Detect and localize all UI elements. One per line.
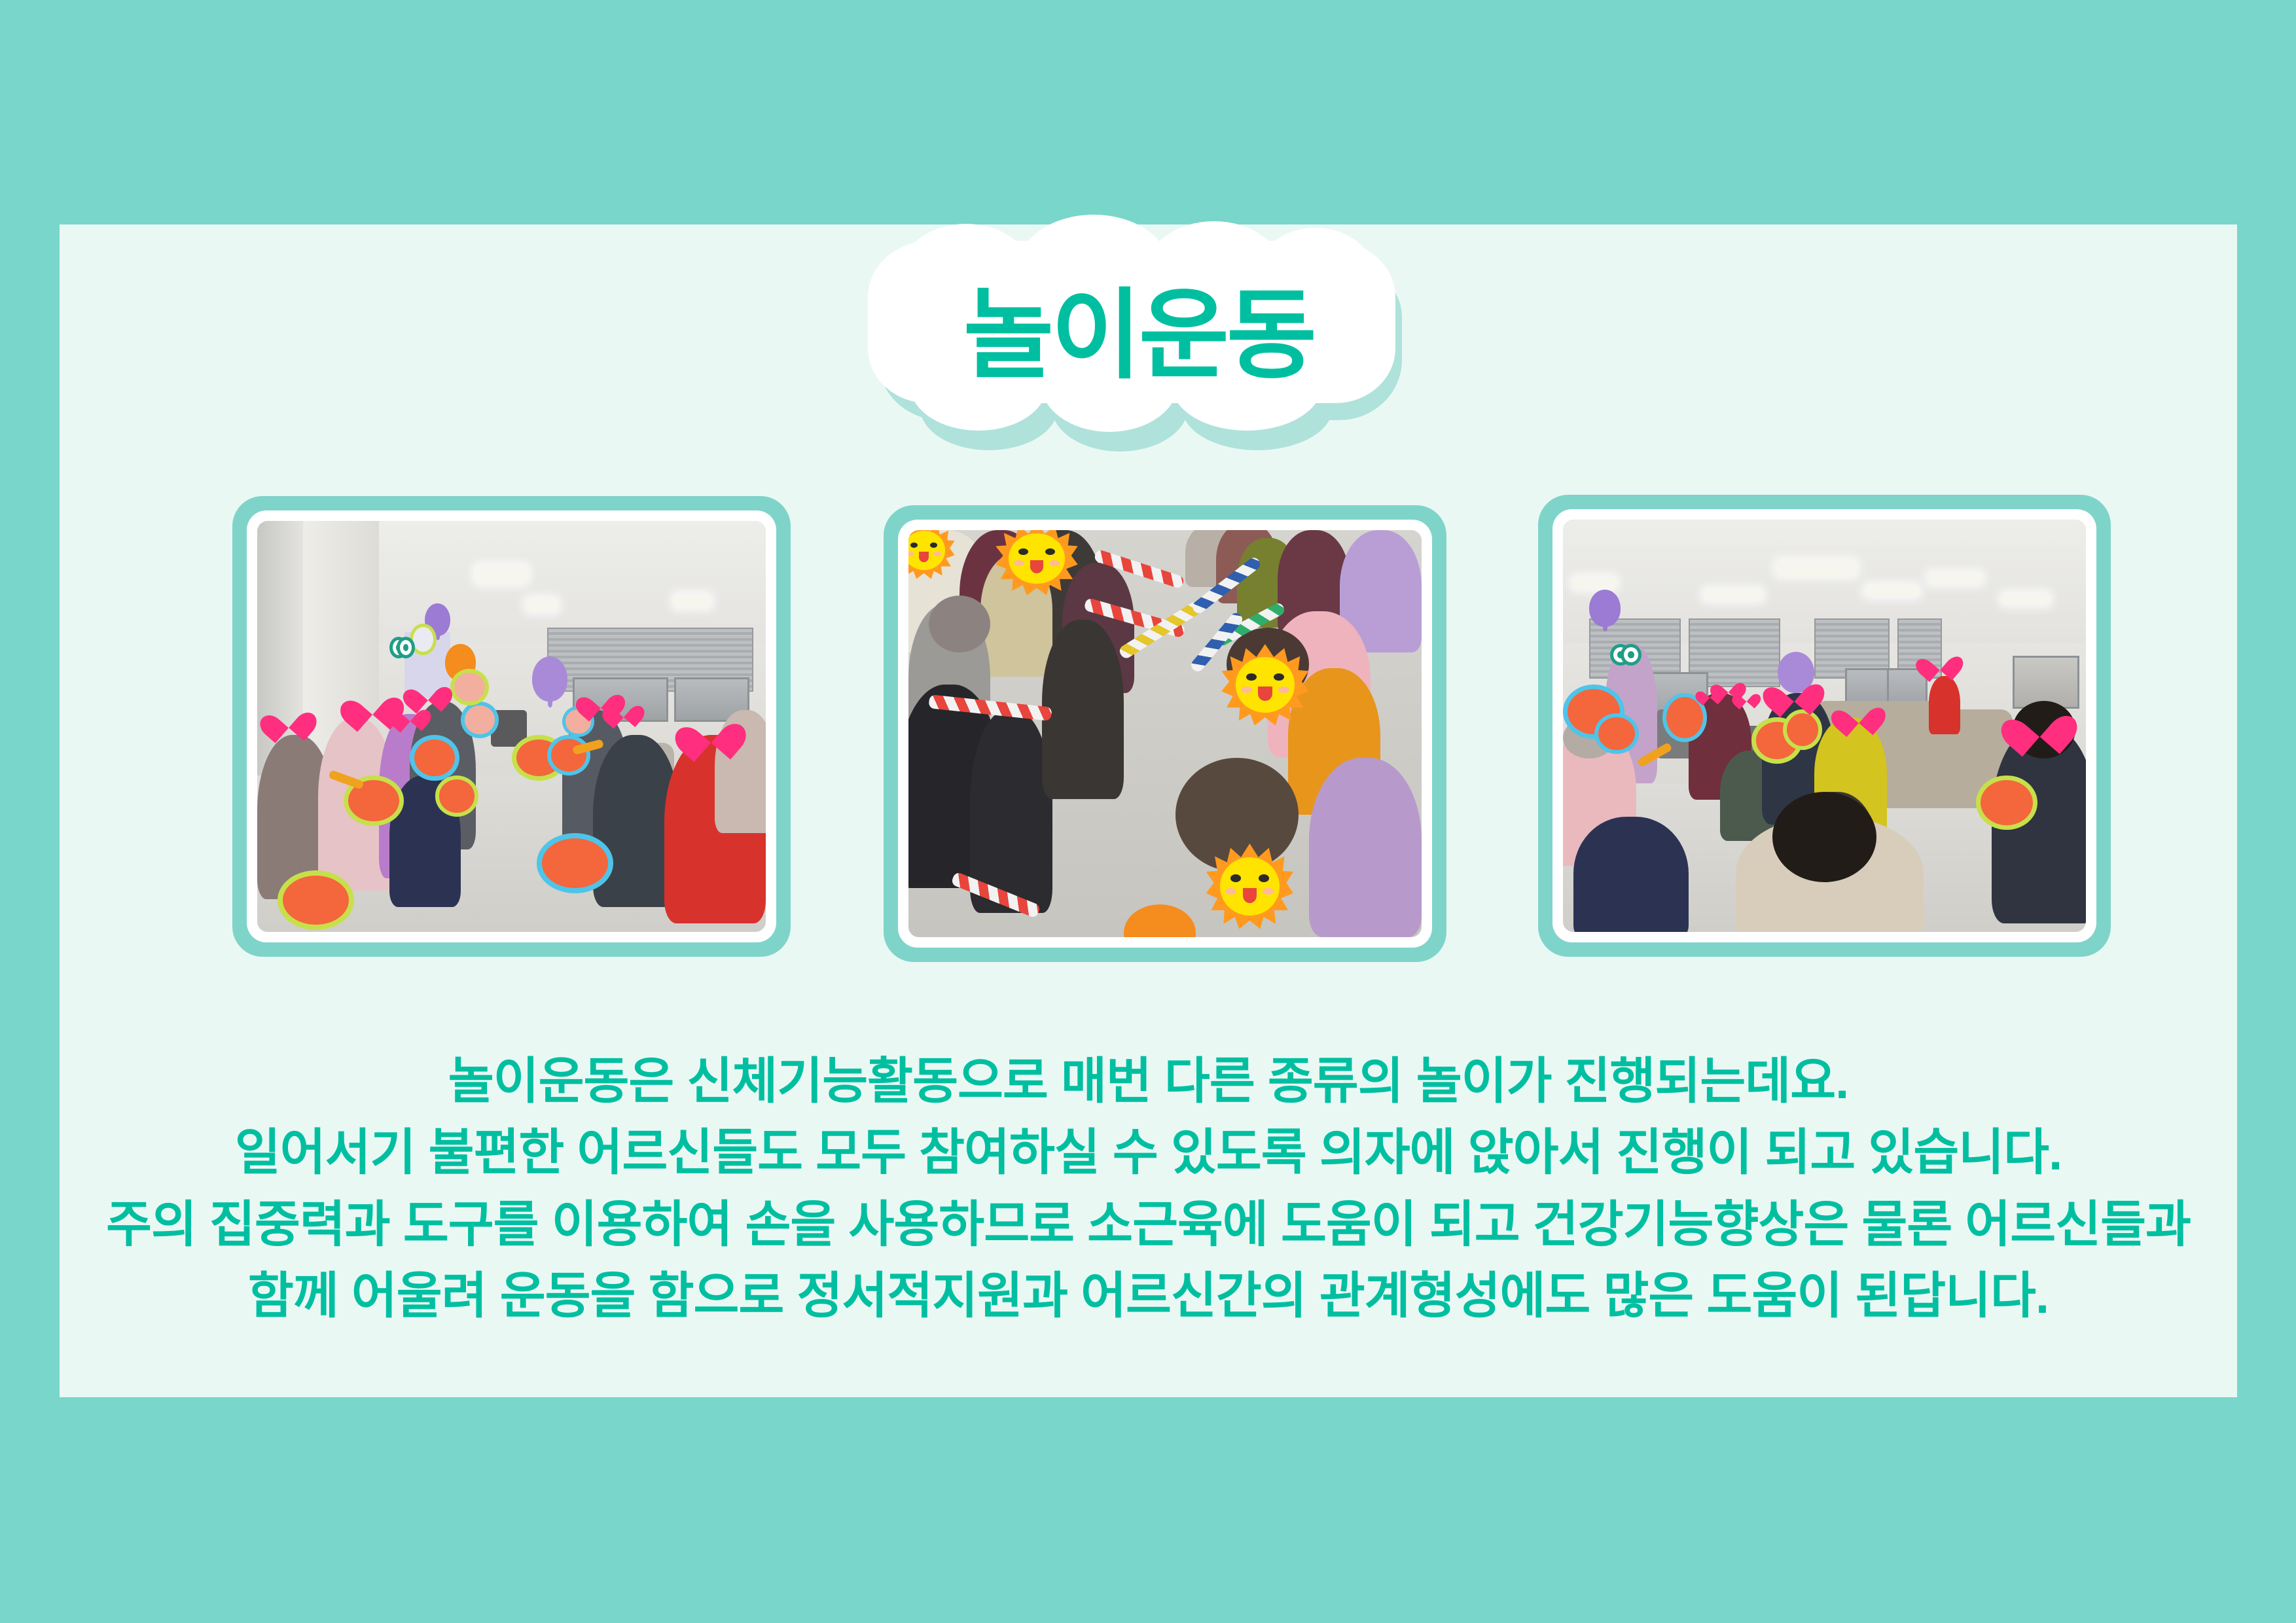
photo-mat-3 (1552, 509, 2096, 942)
heart-sticker (2011, 699, 2067, 748)
heart-sticker (409, 676, 446, 707)
heart-sticker (607, 696, 639, 723)
heart-sticker (1771, 671, 1816, 711)
photo-mat-1 (247, 510, 776, 942)
photo-mat-2 (898, 520, 1432, 948)
heart-sticker (1839, 696, 1878, 731)
sun-sticker (996, 530, 1077, 596)
body-description: 놀이운동은 신체기능활동으로 매번 다른 종류의 놀이가 진행되는데요. 일어서… (60, 1046, 2237, 1332)
heart-sticker (1923, 647, 1956, 677)
heart-sticker (266, 700, 310, 736)
body-line-4: 함께 어울려 운동을 함으로 정서적지원과 어르신간의 관계형성에도 많은 도움… (60, 1260, 2237, 1332)
photo-image-1 (257, 521, 766, 932)
heart-sticker (683, 708, 737, 753)
body-line-2: 일어서기 불편한 어르신들도 모두 참여하실 수 있도록 의자에 앉아서 진행이… (60, 1117, 2237, 1188)
page-title: 놀이운동 (864, 241, 1414, 412)
title-badge: 놀이운동 (864, 241, 1414, 437)
photo-card-2 (884, 505, 1446, 962)
body-line-1: 놀이운동은 신체기능활동으로 매번 다른 종류의 놀이가 진행되는데요. (60, 1046, 2237, 1117)
sticker-eye (397, 637, 415, 658)
heart-sticker (1698, 684, 1721, 702)
heart-sticker (1735, 688, 1757, 705)
sun-sticker (908, 530, 955, 579)
photo-image-2 (908, 530, 1422, 937)
sun-sticker (1206, 844, 1293, 929)
photo-image-3 (1563, 520, 2086, 932)
body-line-3: 주의 집중력과 도구를 이용하여 손을 사용하므로 소근육에 도움이 되고 건강… (60, 1189, 2237, 1260)
photo-card-3 (1538, 495, 2111, 957)
photo-card-1 (232, 496, 791, 957)
sun-sticker (1221, 644, 1308, 725)
